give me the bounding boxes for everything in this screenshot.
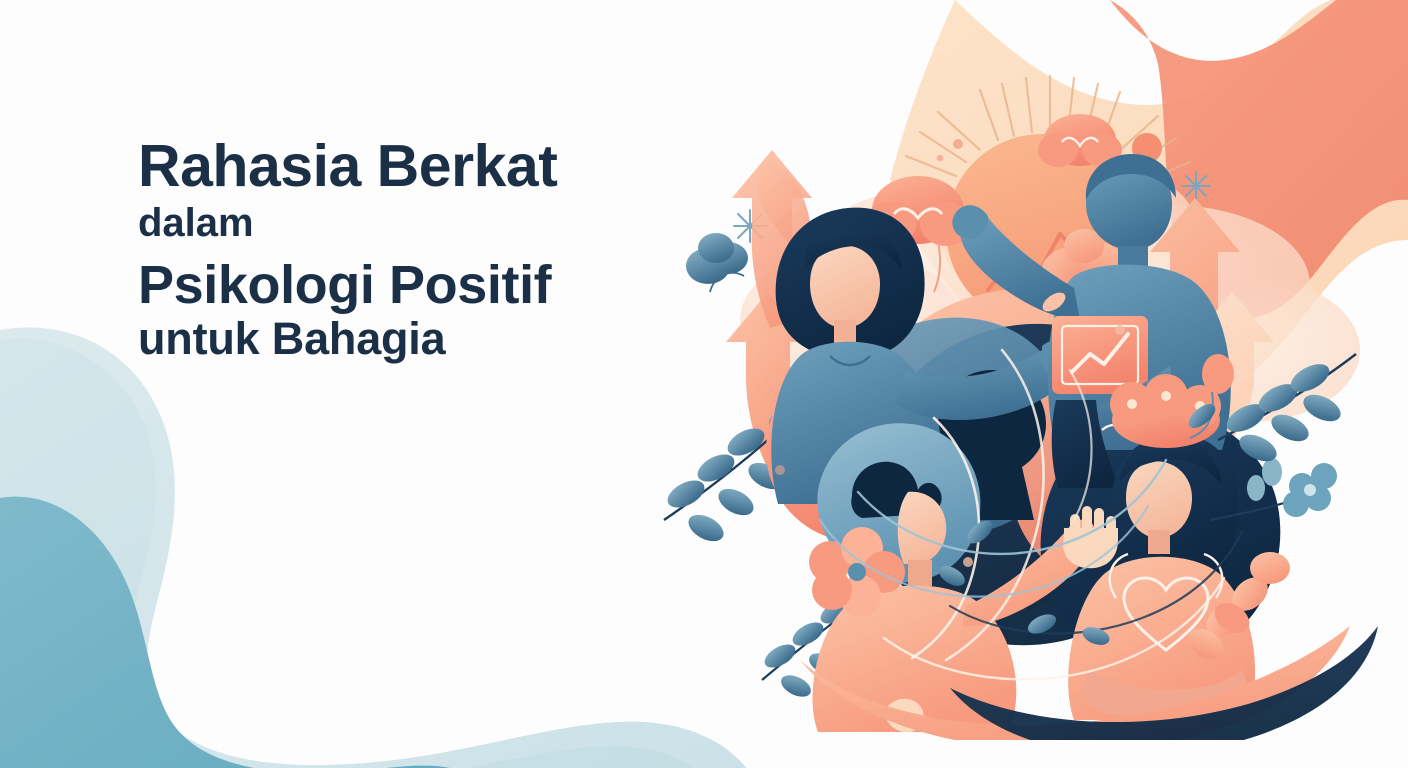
headline-line-3: Psikologi Positif: [138, 257, 698, 313]
sparkle-icon-right: [1182, 172, 1210, 200]
bottom-left-light-blob-extension: [0, 328, 760, 768]
bottom-left-dark-blob: [0, 497, 450, 768]
headline-block: Rahasia Berkat dalam Psikologi Positif u…: [138, 136, 698, 362]
positive-psychology-illustration: [650, 20, 1408, 740]
headline-line-2: dalam: [138, 202, 698, 245]
headline-line-1: Rahasia Berkat: [138, 136, 698, 196]
poster-canvas: Rahasia Berkat dalam Psikologi Positif u…: [0, 0, 1408, 768]
bottom-left-light-blob: [0, 338, 720, 768]
headline-line-4: untuk Bahagia: [138, 316, 698, 363]
